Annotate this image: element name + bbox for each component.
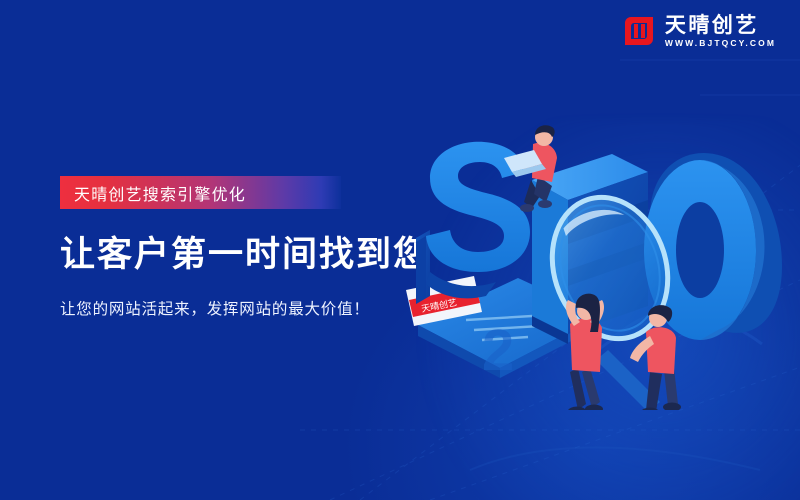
logo-company-name: 天晴创艺 (665, 15, 776, 36)
seo-illustration: 天晴创艺 2 (400, 120, 800, 410)
hero-tag-banner: 天晴创艺搜索引擎优化 (60, 176, 341, 209)
decorative-number: 2 (482, 318, 514, 383)
logo-text-group: 天晴创艺 WWW.BJTQCY.COM (665, 15, 776, 48)
tianqing-monogram-icon (622, 14, 656, 48)
logo-website-url: WWW.BJTQCY.COM (665, 39, 776, 48)
person-holding-magnifier-left (566, 294, 604, 410)
banner-stage: 天晴创艺 WWW.BJTQCY.COM 天晴创艺搜索引擎优化 让客户第一时间找到… (0, 0, 800, 500)
hero-tag-label: 天晴创艺搜索引擎优化 (60, 181, 246, 205)
site-logo[interactable]: 天晴创艺 WWW.BJTQCY.COM (622, 14, 776, 48)
